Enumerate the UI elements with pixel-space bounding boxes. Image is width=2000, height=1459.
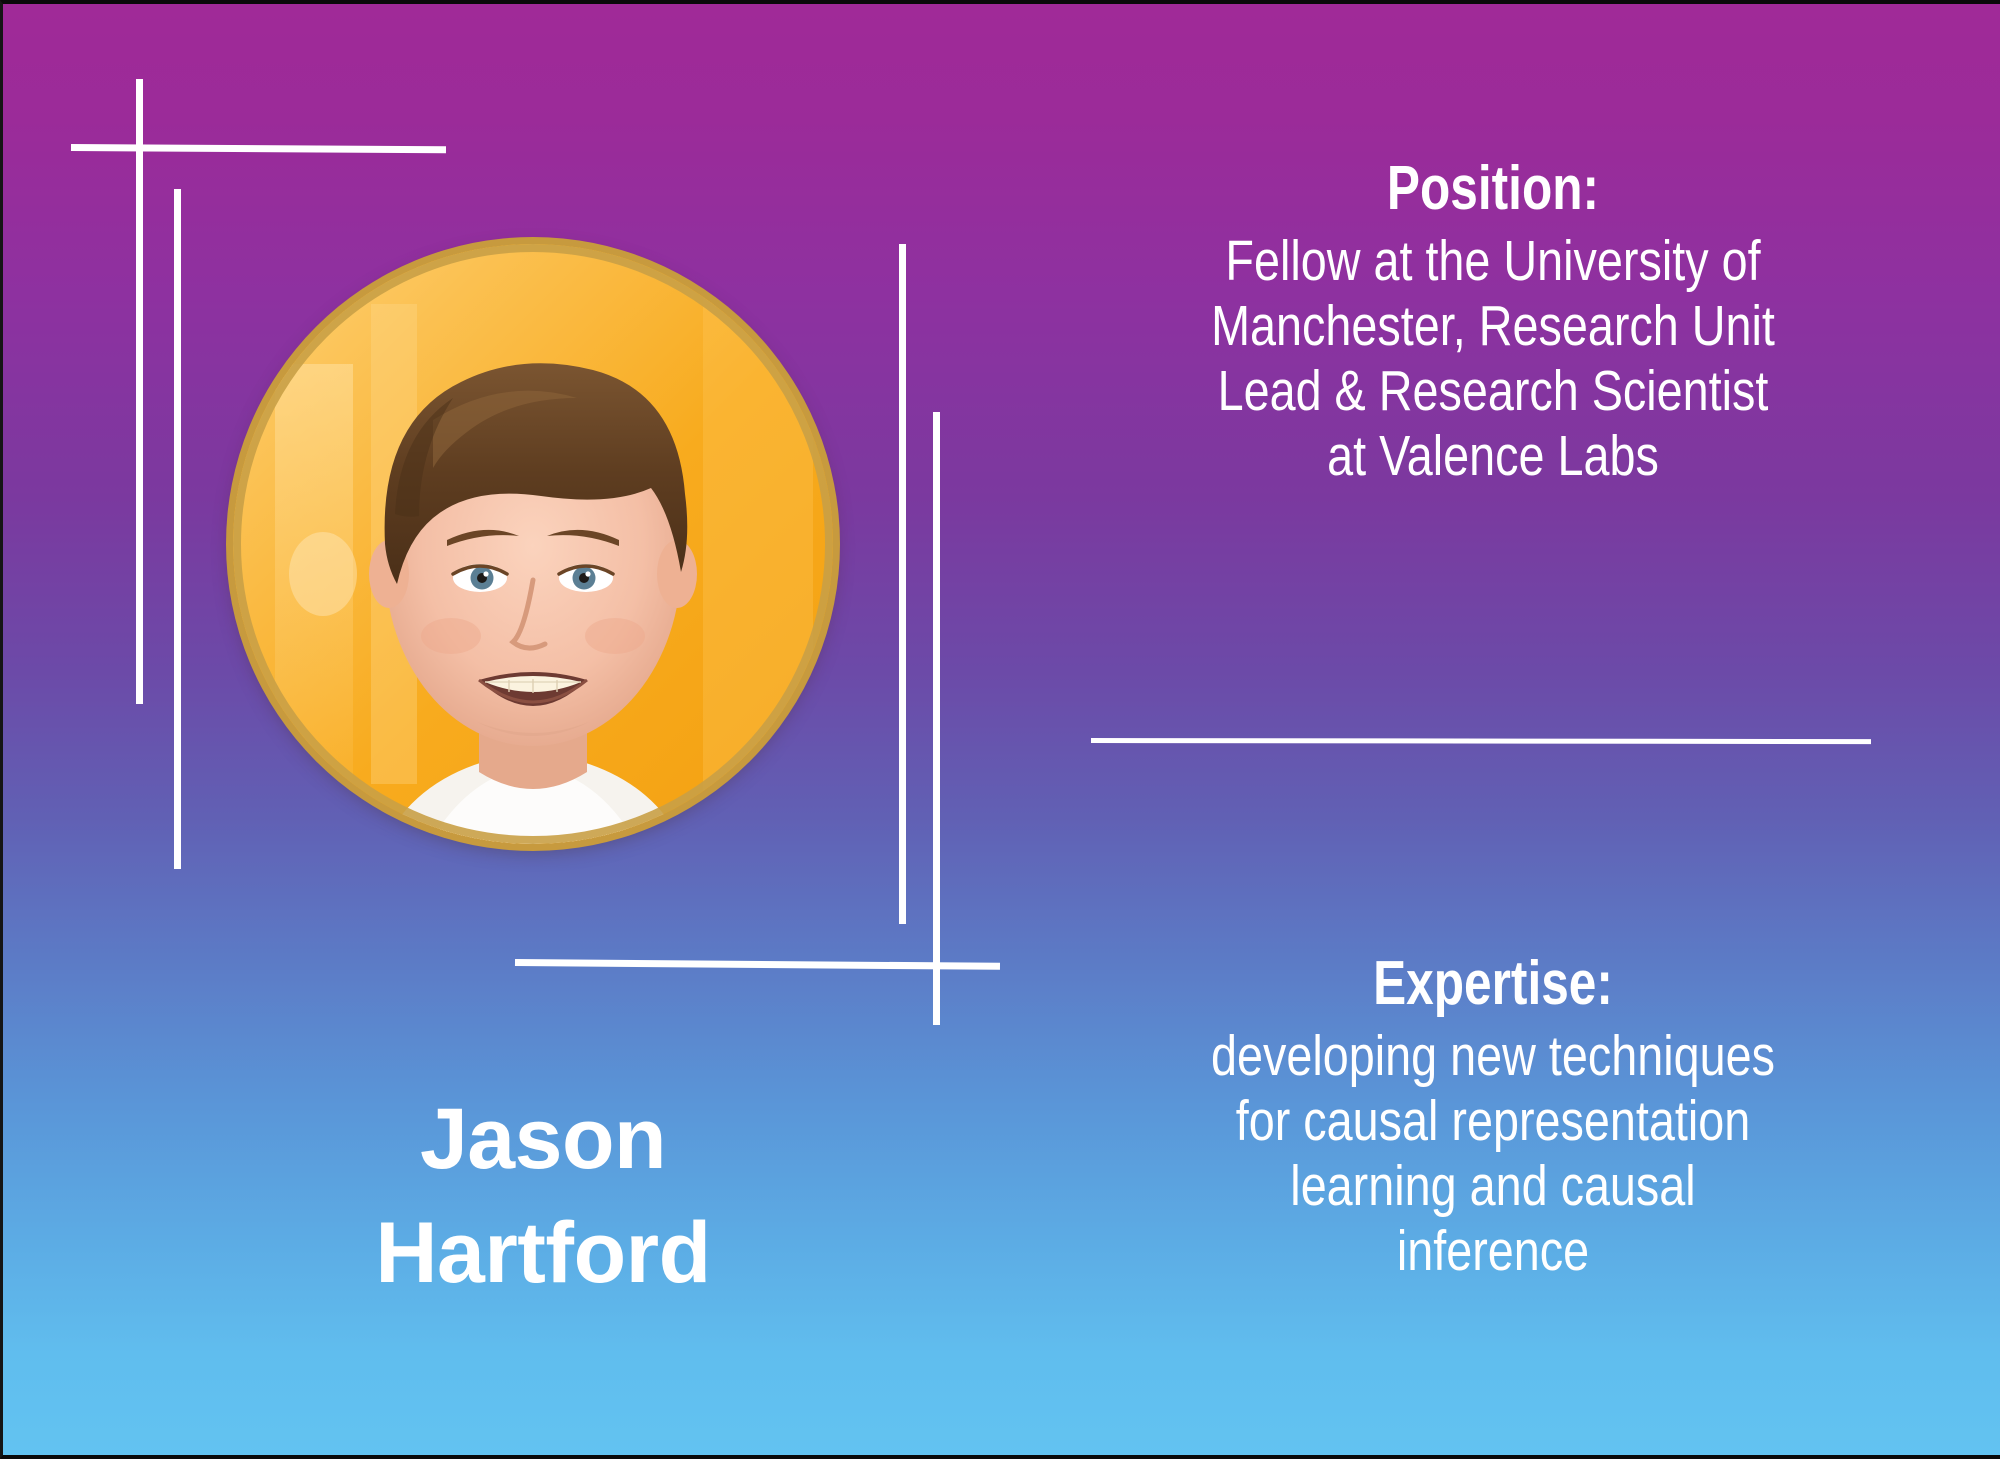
decorative-line-vertical-left-outer — [136, 79, 143, 704]
section-divider-line — [1091, 738, 1871, 744]
position-heading: Position: — [1173, 154, 1813, 223]
position-line-3: Lead & Research Scientist — [1165, 359, 1821, 424]
position-line-4: at Valence Labs — [1165, 424, 1821, 489]
position-line-1: Fellow at the University of — [1165, 229, 1821, 294]
expertise-line-2: for causal representation — [1165, 1089, 1821, 1154]
speaker-name-line-1: Jason — [253, 1082, 833, 1196]
expertise-line-4: inference — [1165, 1219, 1821, 1284]
expertise-body: developing new techniques for causal rep… — [1165, 1024, 1821, 1284]
decorative-line-vertical-left-inner — [174, 189, 181, 869]
portrait-illustration — [233, 244, 833, 844]
speaker-card-slide: Jason Hartford Position: Fellow at the U… — [0, 0, 2000, 1459]
expertise-line-1: developing new techniques — [1165, 1024, 1821, 1089]
decorative-line-horizontal-top — [71, 144, 446, 153]
speaker-name-line-2: Hartford — [253, 1196, 833, 1310]
position-body: Fellow at the University of Manchester, … — [1165, 229, 1821, 489]
speaker-name: Jason Hartford — [253, 1082, 833, 1311]
decorative-line-vertical-right-inner — [899, 244, 906, 924]
decorative-line-horizontal-bottom — [515, 959, 1000, 970]
expertise-section: Expertise: developing new techniques for… — [1093, 949, 1893, 1284]
decorative-line-vertical-right-outer — [933, 412, 940, 1025]
position-section: Position: Fellow at the University of Ma… — [1093, 154, 1893, 489]
position-line-2: Manchester, Research Unit — [1165, 294, 1821, 359]
speaker-photo — [233, 244, 833, 844]
expertise-heading: Expertise: — [1173, 949, 1813, 1018]
expertise-line-3: learning and causal — [1165, 1154, 1821, 1219]
